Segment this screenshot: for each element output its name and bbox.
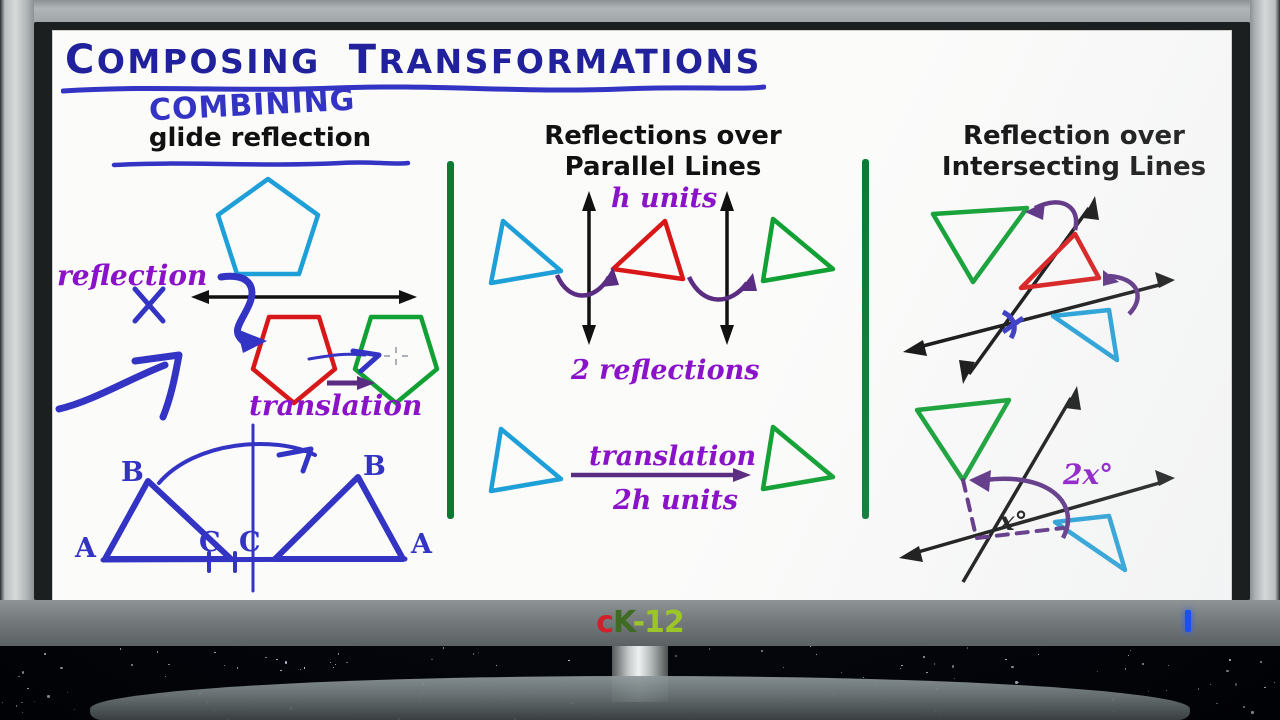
power-led-indicator <box>1185 610 1191 632</box>
star <box>168 664 169 665</box>
label-angle-x: x° <box>998 507 1028 537</box>
monitor-bezel-left <box>0 0 34 646</box>
star <box>34 701 35 702</box>
star <box>1125 668 1126 669</box>
label-2-reflections: 2 reflections <box>570 355 759 386</box>
star <box>1198 688 1199 689</box>
star <box>2 702 3 703</box>
angle-arc-2x-head <box>969 470 991 492</box>
star <box>44 653 45 654</box>
star <box>473 653 474 654</box>
star <box>1005 659 1006 660</box>
triangle-second-reflection-green <box>763 219 833 281</box>
star <box>280 670 281 671</box>
star <box>568 660 569 661</box>
intersecting-lines-diagram-bottom: 2x° x° <box>877 376 1237 591</box>
star <box>1235 683 1237 685</box>
triangle-green-bottom <box>917 400 1009 480</box>
star <box>496 665 497 666</box>
star <box>335 664 336 665</box>
star <box>67 692 68 693</box>
vertex-label-left-C: C <box>199 527 221 558</box>
star <box>1097 671 1098 672</box>
title-cap-c: C <box>65 37 97 83</box>
triangle-preimage-blue <box>491 221 561 283</box>
star <box>18 676 19 677</box>
column-title-glide-reflection: glide reflection <box>115 123 405 153</box>
star <box>478 652 479 653</box>
star <box>675 655 677 657</box>
pointer-hook-blue <box>135 355 179 417</box>
logo-number-12: -12 <box>633 605 684 640</box>
star <box>761 650 763 652</box>
star <box>934 663 935 664</box>
triangle-blue-top <box>1053 310 1117 360</box>
column-divider-right <box>862 159 869 519</box>
vertex-label-right-B: B <box>363 451 386 482</box>
triangle-green-top <box>933 208 1027 282</box>
star <box>900 668 901 669</box>
star <box>21 702 22 703</box>
reflection-line-arrow-left <box>191 290 209 304</box>
intersect-title-line-2: Intersecting Lines <box>898 152 1250 183</box>
congruent-triangles-diagram: B A C C B A <box>63 419 443 594</box>
reflection-motion-arrow <box>221 276 252 341</box>
star <box>1038 654 1039 655</box>
vertex-label-left-B: B <box>121 457 144 488</box>
logo-letter-k: K <box>613 605 633 640</box>
star <box>300 669 301 670</box>
monitor-bezel-top <box>0 0 1280 24</box>
monitor-frame: COMPOSING TRANSFORMATIONS COMBINING glid… <box>0 0 1280 646</box>
reflection-line-arrow-right <box>399 290 417 304</box>
star <box>1130 650 1131 651</box>
flip-motion-arc <box>159 444 315 483</box>
reflection-arc-2-head <box>739 273 757 291</box>
star <box>285 661 287 663</box>
label-h-units: h units <box>611 183 717 214</box>
title-rest-composing: OMPOSING <box>97 42 321 81</box>
star <box>1226 670 1228 672</box>
star <box>1216 703 1217 704</box>
triangle-translate-result-green <box>763 427 833 489</box>
mirror-line-1 <box>582 191 596 345</box>
star <box>276 659 277 660</box>
triangle-right <box>275 477 403 559</box>
cursor-crosshair-icon <box>384 347 408 365</box>
vertex-label-right-C: C <box>239 527 261 558</box>
star <box>1264 687 1265 688</box>
star <box>333 667 334 668</box>
star <box>330 662 331 663</box>
star <box>265 657 266 658</box>
triangle-first-reflection-red <box>613 221 683 279</box>
label-translation: translation <box>249 389 422 422</box>
star <box>923 656 925 658</box>
star <box>783 667 784 668</box>
star <box>74 709 75 710</box>
star <box>1251 711 1253 713</box>
star <box>338 653 339 654</box>
dashed-ref-upper <box>963 480 975 532</box>
star <box>47 695 49 697</box>
intersecting-lines-diagram-top <box>877 186 1237 386</box>
reflection-arc-2 <box>689 277 747 300</box>
page-title: COMPOSING TRANSFORMATIONS <box>65 37 825 83</box>
star <box>224 665 225 666</box>
star <box>1274 682 1275 683</box>
star <box>1243 706 1244 707</box>
flip-motion-arrowhead <box>279 449 311 471</box>
star <box>1229 659 1231 661</box>
glide-reflection-diagram: reflection translation <box>53 169 453 419</box>
star <box>16 705 17 706</box>
star <box>346 662 347 663</box>
pointer-stroke-blue <box>59 365 165 409</box>
monitor-bezel-bottom: cK-12 <box>0 600 1280 646</box>
star <box>1142 663 1144 665</box>
x-mark-icon <box>135 289 163 321</box>
star <box>952 665 954 667</box>
star <box>901 665 902 666</box>
star <box>1128 655 1129 656</box>
screen-capture-stage: COMPOSING TRANSFORMATIONS COMBINING glid… <box>0 0 1280 720</box>
star <box>1166 690 1167 691</box>
whiteboard: COMPOSING TRANSFORMATIONS COMBINING glid… <box>52 30 1232 602</box>
triangle-red-top <box>1021 234 1099 288</box>
glide-title-underline <box>111 159 411 169</box>
label-angle-2x: 2x° <box>1062 458 1113 491</box>
star <box>443 647 444 648</box>
star <box>131 664 132 665</box>
label-2h-units: 2h units <box>612 485 738 516</box>
star <box>709 648 710 649</box>
star <box>1015 681 1017 683</box>
star <box>27 688 28 689</box>
title-cap-t: T <box>349 37 379 83</box>
title-rest-transformations: RANSFORMATIONS <box>379 42 762 81</box>
star <box>841 672 842 673</box>
star <box>1260 661 1262 663</box>
arc-green-to-red-head <box>1025 202 1045 220</box>
star <box>22 712 23 713</box>
star <box>157 651 158 652</box>
star <box>304 667 305 668</box>
vertex-label-left-A: A <box>74 533 97 564</box>
star <box>954 678 955 679</box>
pentagon-preimage-blue <box>218 179 318 274</box>
star <box>214 652 215 653</box>
label-translation-middle: translation <box>589 441 756 472</box>
column-title-intersecting-lines: Reflection over Intersecting Lines <box>898 121 1250 183</box>
intersect-title-line-1: Reflection over <box>898 121 1250 152</box>
star <box>165 676 166 677</box>
star <box>60 667 62 669</box>
logo-letter-c: c <box>596 605 613 640</box>
ck12-logo: cK-12 <box>0 605 1280 640</box>
star <box>816 654 817 655</box>
column-title-parallel-lines: Reflections over Parallel Lines <box>483 121 843 183</box>
star <box>967 647 968 648</box>
label-reflection: reflection <box>57 259 207 292</box>
star <box>1168 665 1169 666</box>
translation-summary-diagram: translation 2h units <box>461 413 861 533</box>
star <box>22 671 24 673</box>
star <box>1210 684 1211 685</box>
baseline-stroke <box>103 559 405 560</box>
star <box>120 648 121 649</box>
star <box>431 659 432 660</box>
star <box>1011 666 1013 668</box>
vertex-label-right-A: A <box>410 529 433 560</box>
monitor-bezel-right <box>1250 0 1280 646</box>
star <box>237 667 238 668</box>
mirror-line-2 <box>720 191 734 345</box>
monitor-stand-base <box>90 676 1190 720</box>
triangle-translate-source-blue <box>491 429 561 491</box>
reflection-arc-1 <box>557 275 609 296</box>
star <box>1148 691 1149 692</box>
parallel-reflections-diagram: h units 2 reflections <box>461 179 861 389</box>
parallel-title-line-1: Reflections over <box>483 121 843 152</box>
star <box>926 672 927 673</box>
